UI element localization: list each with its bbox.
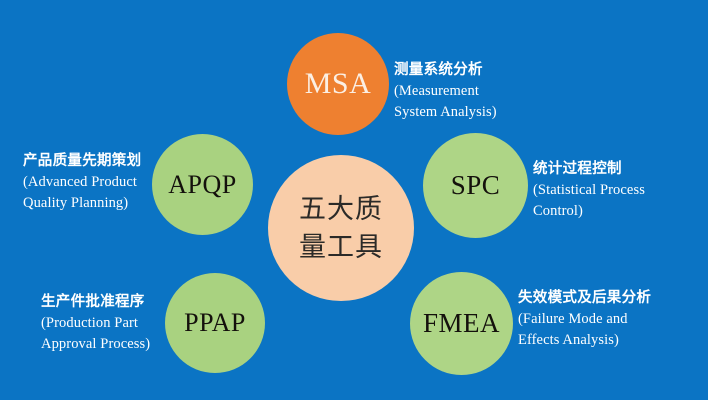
- node-circle-ppap[interactable]: PPAP: [165, 273, 265, 373]
- callout-msa: 测量系统分析 (Measurement System Analysis): [394, 60, 497, 123]
- callout-msa-en-line1: (Measurement: [394, 81, 497, 102]
- callout-fmea-en-line1: (Failure Mode and: [518, 309, 651, 330]
- node-circle-fmea[interactable]: FMEA: [410, 272, 513, 375]
- callout-fmea-en-line2: Effects Analysis): [518, 330, 651, 351]
- callout-ppap: 生产件批准程序 (Production Part Approval Proces…: [41, 292, 150, 355]
- node-label-spc: SPC: [451, 172, 501, 199]
- callout-ppap-en-line2: Approval Process): [41, 334, 150, 355]
- callout-msa-en-line2: System Analysis): [394, 102, 497, 123]
- callout-spc: 统计过程控制 (Statistical Process Control): [533, 159, 645, 222]
- callout-ppap-en-line1: (Production Part: [41, 313, 150, 334]
- callout-spc-en-line1: (Statistical Process: [533, 180, 645, 201]
- node-circle-msa[interactable]: MSA: [287, 33, 389, 135]
- callout-apqp-cn: 产品质量先期策划: [23, 151, 141, 172]
- node-label-apqp: APQP: [168, 172, 236, 198]
- callout-msa-cn: 测量系统分析: [394, 60, 497, 81]
- callout-apqp-en-line1: (Advanced Product: [23, 172, 141, 193]
- node-circle-spc[interactable]: SPC: [423, 133, 528, 238]
- node-label-ppap: PPAP: [184, 310, 246, 336]
- node-label-fmea: FMEA: [423, 310, 500, 337]
- diagram-canvas: MSA APQP SPC PPAP FMEA 五大质 量工具 测量系统分析 (M…: [0, 0, 708, 403]
- center-title-line-1: 五大质: [299, 190, 383, 228]
- callout-ppap-cn: 生产件批准程序: [41, 292, 150, 313]
- center-circle: 五大质 量工具: [268, 155, 414, 301]
- callout-fmea-cn: 失效模式及后果分析: [518, 288, 651, 309]
- callout-apqp-en-line2: Quality Planning): [23, 193, 141, 214]
- node-circle-apqp[interactable]: APQP: [152, 134, 253, 235]
- callout-apqp: 产品质量先期策划 (Advanced Product Quality Plann…: [23, 151, 141, 214]
- callout-spc-en-line2: Control): [533, 201, 645, 222]
- callout-fmea: 失效模式及后果分析 (Failure Mode and Effects Anal…: [518, 288, 651, 351]
- center-title-line-2: 量工具: [299, 228, 383, 266]
- callout-spc-cn: 统计过程控制: [533, 159, 645, 180]
- node-label-msa: MSA: [305, 69, 372, 99]
